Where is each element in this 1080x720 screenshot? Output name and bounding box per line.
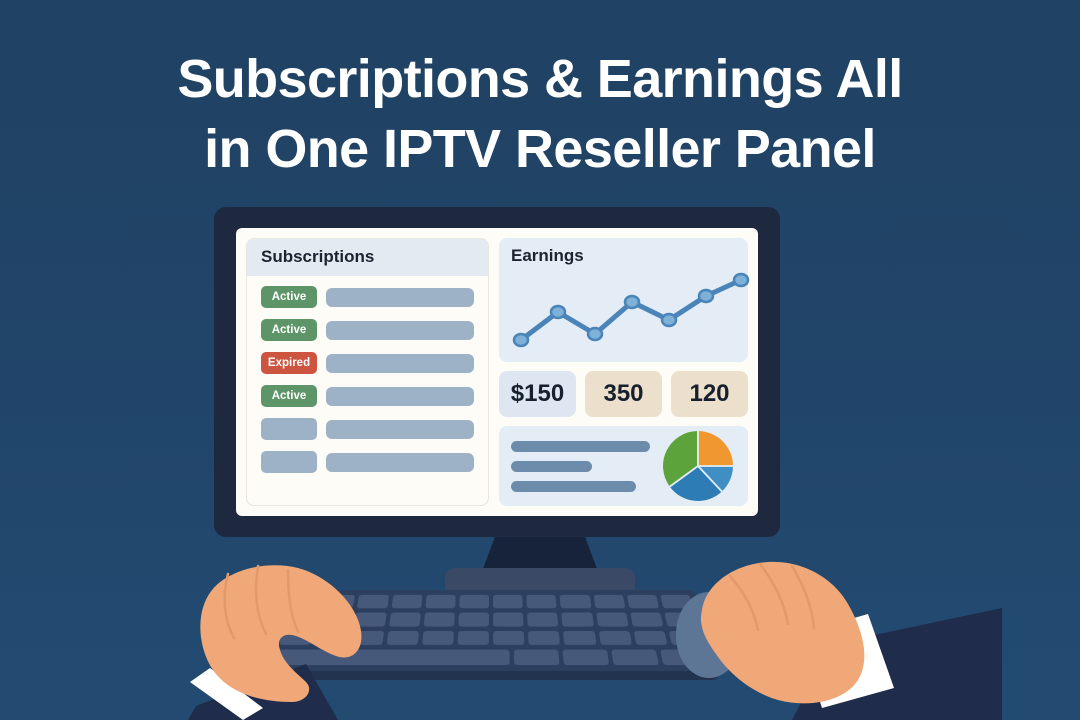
left-hand-on-keyboard: [188, 556, 488, 720]
row-placeholder-bar: [326, 288, 474, 307]
row-placeholder-bar: [326, 453, 474, 472]
key[interactable]: [493, 595, 523, 608]
list-item[interactable]: Active: [261, 385, 474, 407]
status-badge: Active: [261, 319, 317, 341]
key[interactable]: [596, 612, 629, 626]
key[interactable]: [562, 650, 609, 665]
list-item[interactable]: [261, 451, 474, 473]
key[interactable]: [527, 612, 558, 626]
pie-chart-wrapper: [660, 428, 736, 504]
subscriptions-panel: Subscriptions Active Active Expired: [246, 238, 489, 506]
summary-panel: [499, 426, 748, 506]
earnings-column: Earnings: [499, 238, 748, 506]
list-item[interactable]: Active: [261, 319, 474, 341]
key[interactable]: [627, 595, 659, 608]
key[interactable]: [528, 631, 560, 646]
earnings-panel: Earnings: [499, 238, 748, 362]
status-badge-placeholder: [261, 418, 317, 440]
key[interactable]: [630, 612, 663, 626]
stat-card-subscribers[interactable]: 350: [585, 371, 662, 417]
text-placeholder-bar: [511, 481, 636, 492]
key[interactable]: [493, 631, 524, 646]
subscriptions-list: Active Active Expired Active: [247, 276, 488, 481]
key[interactable]: [633, 631, 667, 646]
row-placeholder-bar: [326, 420, 474, 439]
list-item[interactable]: Active: [261, 286, 474, 308]
distribution-pie-chart: [660, 428, 736, 504]
right-hand: [701, 562, 864, 704]
key[interactable]: [560, 595, 591, 608]
key[interactable]: [493, 612, 524, 626]
monitor-screen: Subscriptions Active Active Expired: [236, 228, 758, 516]
status-badge: Active: [261, 286, 317, 308]
subscriptions-panel-title: Subscriptions: [247, 239, 488, 276]
text-placeholder-bar: [511, 441, 650, 452]
key[interactable]: [563, 631, 596, 646]
key[interactable]: [593, 595, 625, 608]
status-badge: Active: [261, 385, 317, 407]
illustration-scene: Subscriptions Active Active Expired: [0, 0, 1080, 720]
stats-row: $150 350 120: [499, 371, 748, 417]
text-placeholder-bar: [511, 461, 592, 472]
status-badge-placeholder: [261, 451, 317, 473]
key[interactable]: [598, 631, 631, 646]
key[interactable]: [526, 595, 557, 608]
list-item[interactable]: Expired: [261, 352, 474, 374]
right-hand-on-mouse: [672, 548, 1002, 720]
row-placeholder-bar: [326, 387, 474, 406]
row-placeholder-bar: [326, 321, 474, 340]
key[interactable]: [562, 612, 594, 626]
summary-text-placeholders: [511, 441, 650, 492]
list-item[interactable]: [261, 418, 474, 440]
stat-card-credits[interactable]: 120: [671, 371, 748, 417]
monitor: Subscriptions Active Active Expired: [214, 207, 780, 537]
key[interactable]: [513, 650, 559, 665]
row-placeholder-bar: [326, 354, 474, 373]
earnings-panel-title: Earnings: [511, 246, 736, 266]
stat-card-earnings[interactable]: $150: [499, 371, 576, 417]
earnings-line-chart: [505, 270, 755, 356]
key[interactable]: [611, 650, 659, 665]
status-badge: Expired: [261, 352, 317, 374]
